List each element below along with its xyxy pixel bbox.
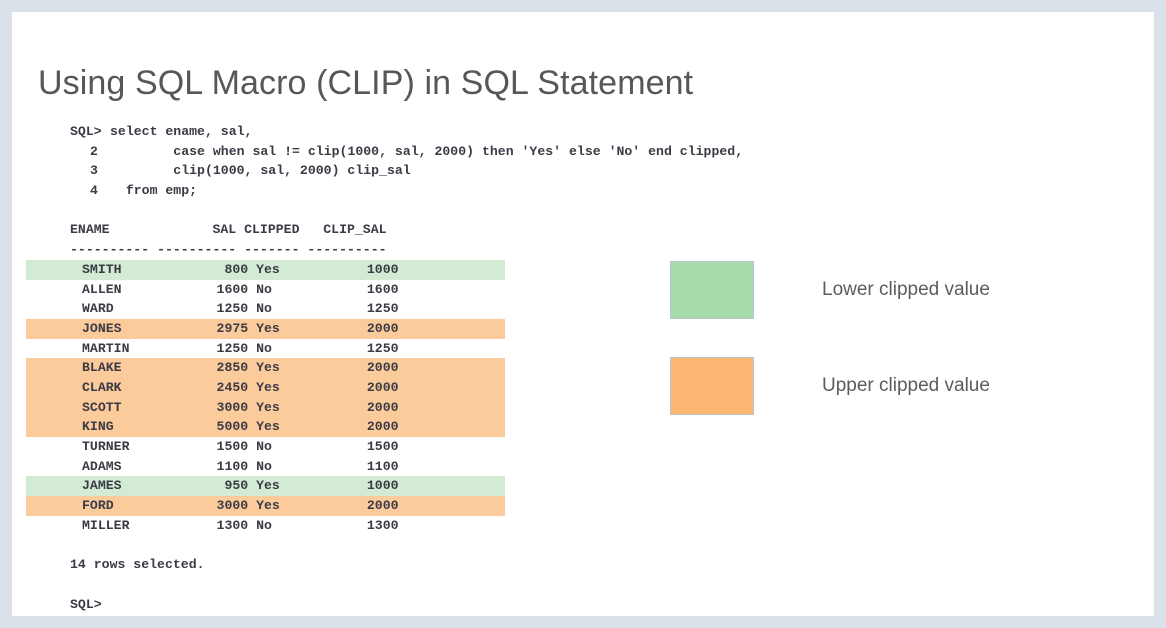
table-row: FORD 3000 Yes 2000 <box>26 496 505 516</box>
sql-prompt: SQL> <box>14 595 674 615</box>
sql-line-number: SQL> <box>70 122 102 142</box>
result-table-header: ENAME SAL CLIPPED CLIP_SAL <box>14 220 674 240</box>
result-table-rows: SMITH 800 Yes 1000ALLEN 1600 No 1600WARD… <box>14 260 674 536</box>
sql-line-text: select ename, sal, <box>110 122 252 142</box>
table-row: MILLER 1300 No 1300 <box>26 516 505 536</box>
slide: Using SQL Macro (CLIP) in SQL Statement … <box>12 12 1154 616</box>
sql-line-text: clip(1000, sal, 2000) clip_sal <box>110 161 411 181</box>
table-row: TURNER 1500 No 1500 <box>26 437 505 457</box>
sql-line-number: 2 <box>90 142 98 162</box>
sql-line-number: 4 <box>90 181 98 201</box>
sql-line-number: 3 <box>90 161 98 181</box>
legend-item-label: Upper clipped value <box>822 375 990 397</box>
console-spacer-2 <box>14 535 674 555</box>
sql-console-output: SQL>select ename, sal,2 case when sal !=… <box>14 122 674 614</box>
sql-line-text: from emp; <box>110 181 197 201</box>
table-row: CLARK 2450 Yes 2000 <box>26 378 505 398</box>
table-row: JONES 2975 Yes 2000 <box>26 319 505 339</box>
legend-item: Lower clipped value <box>670 255 1090 325</box>
console-spacer <box>14 201 674 221</box>
page-title: Using SQL Macro (CLIP) in SQL Statement <box>38 64 693 103</box>
table-row: ALLEN 1600 No 1600 <box>26 280 505 300</box>
table-row: ADAMS 1100 No 1100 <box>26 457 505 477</box>
sql-query-line: 2 case when sal != clip(1000, sal, 2000)… <box>14 142 674 162</box>
table-row: MARTIN 1250 No 1250 <box>26 339 505 359</box>
result-table-separator: ---------- ---------- ------- ---------- <box>14 240 674 260</box>
sql-query-block: SQL>select ename, sal,2 case when sal !=… <box>14 122 674 201</box>
table-row: JAMES 950 Yes 1000 <box>26 476 505 496</box>
sql-query-line: 4 from emp; <box>14 181 674 201</box>
sql-line-text: case when sal != clip(1000, sal, 2000) t… <box>110 142 743 162</box>
legend-color-swatch <box>670 357 754 415</box>
console-spacer-3 <box>14 575 674 595</box>
sql-query-line: 3 clip(1000, sal, 2000) clip_sal <box>14 161 674 181</box>
sql-query-line: SQL>select ename, sal, <box>14 122 674 142</box>
table-row: WARD 1250 No 1250 <box>26 299 505 319</box>
table-row: SCOTT 3000 Yes 2000 <box>26 398 505 418</box>
legend-item: Upper clipped value <box>670 351 1090 421</box>
legend-item-label: Lower clipped value <box>822 279 990 301</box>
legend-color-swatch <box>670 261 754 319</box>
table-row: BLAKE 2850 Yes 2000 <box>26 358 505 378</box>
table-row: SMITH 800 Yes 1000 <box>26 260 505 280</box>
table-row: KING 5000 Yes 2000 <box>26 417 505 437</box>
rows-selected-message: 14 rows selected. <box>14 555 674 575</box>
legend: Lower clipped valueUpper clipped value <box>670 255 1090 447</box>
